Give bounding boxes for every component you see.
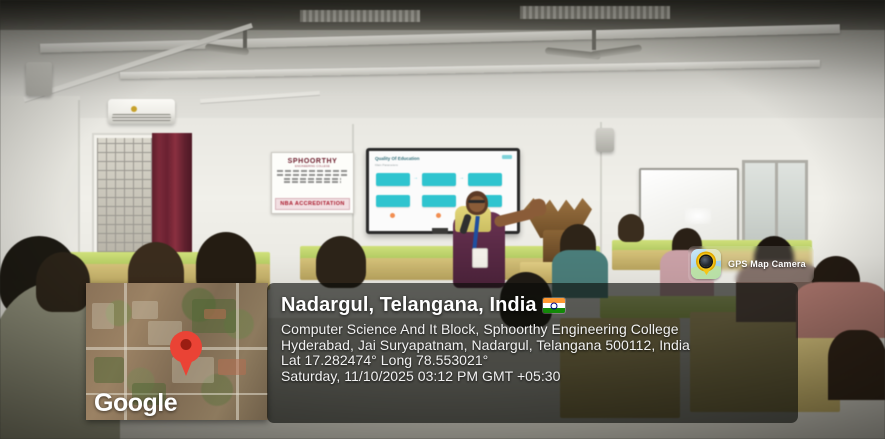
projector-stand: [432, 228, 448, 234]
map-roof: [218, 359, 246, 375]
slide-arrow-icon: →: [459, 176, 464, 181]
audience-member: [618, 214, 644, 242]
wall-speaker: [596, 128, 614, 152]
presenter-id-card: [472, 248, 488, 268]
timestamp-line: Saturday, 11/10/2025 03:12 PM GMT +05:30: [281, 369, 784, 385]
slide-bullet-icon: [390, 213, 395, 218]
audience-member: [796, 282, 885, 338]
poster-text-line: [277, 174, 348, 176]
slide-logo-icon: [502, 155, 512, 159]
map-roof: [204, 309, 226, 319]
right-window: [742, 160, 808, 244]
gps-map-camera-badge[interactable]: GPS Map Camera: [688, 246, 814, 282]
slide-lower-box: [376, 195, 410, 207]
poster-org-name: SPHOORTHY: [272, 158, 353, 165]
slide-flow-box: [468, 173, 502, 186]
poster-text-line: [284, 181, 341, 183]
map-building: [132, 301, 158, 319]
ceiling-vent: [520, 6, 670, 19]
event-poster: SPHOORTHY ENGINEERING COLLEGE NBA ACCRED…: [271, 152, 354, 214]
window-grill: [97, 138, 153, 252]
slide-flow-box: [376, 173, 410, 186]
slide-subtitle: Main Parameters: [375, 163, 398, 167]
poster-org-subtitle: ENGINEERING COLLEGE: [272, 165, 353, 168]
presenter-glasses-icon: [468, 200, 485, 203]
audience-member: [36, 252, 90, 312]
logo-camera-lens: [701, 256, 712, 267]
address-line-1: Computer Science And It Block, Sphoorthy…: [281, 322, 784, 338]
location-title-row: Nadargul, Telangana, India: [281, 293, 784, 317]
air-conditioner: [108, 99, 175, 124]
location-title: Nadargul, Telangana, India: [281, 294, 537, 316]
slide-flow-box: [422, 173, 456, 186]
ceiling-vent: [300, 10, 420, 22]
map-building: [92, 303, 114, 329]
gps-map-camera-photo: SPHOORTHY ENGINEERING COLLEGE NBA ACCRED…: [0, 0, 885, 439]
left-window: [92, 133, 158, 257]
gps-app-label: GPS Map Camera: [728, 259, 806, 269]
audience-member: [828, 330, 885, 400]
poster-text-line: [277, 170, 348, 172]
slide-arrow-icon: →: [413, 176, 418, 181]
map-road: [236, 283, 239, 420]
gps-camera-logo-icon: [691, 249, 721, 279]
ac-indicator-icon: [131, 106, 137, 112]
ceiling-fan-rod: [592, 28, 596, 50]
ceiling-fan-rod: [243, 30, 247, 48]
india-flag-icon: [543, 298, 565, 313]
pin-head: [170, 331, 202, 363]
poster-highlight: NBA ACCREDITATION: [275, 198, 350, 210]
audience-member: [316, 236, 366, 288]
slide-lower-box: [422, 195, 456, 207]
ac-vent: [112, 114, 171, 121]
poster-text-line: [284, 178, 341, 180]
address-line-2: Hyderabad, Jai Suryapatnam, Nadargul, Te…: [281, 338, 784, 354]
presenter-face: [469, 196, 485, 212]
slide-title: Quality Of Education: [375, 156, 420, 161]
slide-bullet-icon: [436, 213, 441, 218]
map-thumbnail[interactable]: Google: [86, 283, 268, 420]
coordinates-line: Lat 17.282474° Long 78.553021°: [281, 353, 784, 369]
map-vegetation: [94, 357, 124, 383]
whiteboard-glare: [685, 208, 711, 224]
location-info-panel: Nadargul, Telangana, India Computer Scie…: [267, 283, 798, 423]
map-pin-icon: [170, 331, 202, 363]
google-watermark: Google: [94, 389, 177, 418]
wall-speaker: [26, 62, 52, 96]
